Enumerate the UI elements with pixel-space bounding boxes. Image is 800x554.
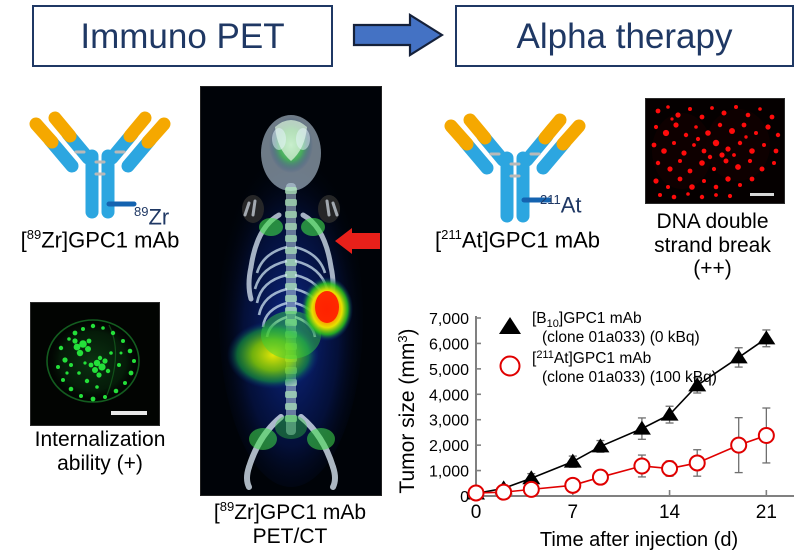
caption-pet-ct-line2: PET/CT bbox=[170, 525, 410, 549]
caption-dna-line3: (++) bbox=[625, 257, 800, 281]
data-point-marker bbox=[730, 349, 748, 363]
caption-internalization: Internalization ability (+) bbox=[0, 428, 200, 475]
pet-ct-image bbox=[200, 86, 382, 496]
legend-marker bbox=[501, 357, 520, 376]
antibody-diagram-zr89 bbox=[10, 100, 190, 220]
caption-pet-ct: [89Zr]GPC1 mAb PET/CT bbox=[170, 500, 410, 548]
caption-at211-gpc1-mab: [211At]GPC1 mAb bbox=[410, 228, 625, 253]
caption-internalization-line1: Internalization bbox=[0, 428, 200, 452]
header-box-immuno-pet: Immuno PET bbox=[32, 5, 333, 67]
isotope-label-at211: 211At bbox=[540, 193, 582, 216]
data-point-marker bbox=[591, 438, 609, 452]
y-tick-label: 3,000 bbox=[429, 413, 469, 430]
isotope-symbol-zr: Zr bbox=[148, 204, 169, 229]
data-point-marker bbox=[634, 458, 649, 473]
caption-mass-89: 89 bbox=[27, 227, 41, 242]
isotope-label-zr89: 89Zr bbox=[134, 205, 169, 228]
caption-text: At]GPC1 mAb bbox=[462, 227, 600, 252]
caption-zr89-gpc1-mab: [89Zr]GPC1 mAb bbox=[0, 228, 200, 253]
isotope-mass-zr89: 89 bbox=[134, 204, 148, 219]
data-point-marker bbox=[469, 485, 484, 500]
caption-mass-89: 89 bbox=[220, 499, 234, 514]
y-tick-label: 4,000 bbox=[429, 387, 469, 404]
caption-dna-damage: DNA double strand break (++) bbox=[625, 210, 800, 281]
caption-text: Zr]GPC1 mAb bbox=[234, 501, 366, 524]
y-tick-label: 1,000 bbox=[429, 464, 469, 481]
legend-marker bbox=[499, 317, 521, 334]
y-tick-label: 5,000 bbox=[429, 362, 469, 379]
y-tick-label: 2,000 bbox=[429, 438, 469, 455]
isotope-mass-at211: 211 bbox=[540, 192, 561, 207]
data-point-marker bbox=[565, 478, 580, 493]
tumor-growth-chart: 01,0002,0003,0004,0005,0006,0007,0000714… bbox=[398, 300, 800, 554]
red-arrow-icon bbox=[334, 228, 382, 254]
internalization-microscopy-image bbox=[30, 302, 160, 426]
caption-mass-211: 211 bbox=[441, 227, 462, 242]
caption-text: Zr]GPC1 mAb bbox=[41, 227, 179, 252]
header-label-alpha-therapy: Alpha therapy bbox=[517, 19, 733, 54]
header-box-alpha-therapy: Alpha therapy bbox=[455, 5, 794, 67]
antibody-icon bbox=[10, 100, 190, 220]
dna-damage-microscopy-image bbox=[645, 98, 785, 204]
x-tick-label: 0 bbox=[471, 502, 482, 523]
series-line bbox=[476, 435, 766, 492]
isotope-symbol-at: At bbox=[561, 192, 582, 217]
x-tick-label: 7 bbox=[567, 502, 578, 523]
y-tick-label: 7,000 bbox=[429, 311, 469, 328]
legend-label-line1: [211At]GPC1 mAb bbox=[532, 349, 651, 367]
legend-label-line2: (clone 01a033) (0 kBq) bbox=[542, 329, 700, 346]
data-point-marker bbox=[757, 330, 775, 344]
svg-text:Tumor size (mm3): Tumor size (mm3) bbox=[398, 328, 419, 493]
x-axis-title: Time after injection (d) bbox=[540, 529, 738, 551]
x-tick-label: 14 bbox=[659, 502, 681, 523]
legend-label-line2: (clone 01a033) (100 kBq) bbox=[542, 369, 717, 386]
tumor-growth-plot: 01,0002,0003,0004,0005,0006,0007,0000714… bbox=[398, 300, 800, 554]
right-arrow-icon bbox=[352, 13, 444, 57]
data-point-marker bbox=[633, 421, 651, 435]
data-point-marker bbox=[496, 485, 511, 500]
data-point-marker bbox=[690, 455, 705, 470]
data-point-marker bbox=[662, 461, 677, 476]
x-tick-label: 21 bbox=[756, 502, 777, 523]
data-point-marker bbox=[731, 438, 746, 453]
y-tick-label: 6,000 bbox=[429, 336, 469, 353]
caption-dna-line2: strand break bbox=[625, 234, 800, 258]
caption-internalization-line2: ability (+) bbox=[0, 452, 200, 476]
header-label-immuno-pet: Immuno PET bbox=[80, 19, 284, 54]
data-point-marker bbox=[593, 470, 608, 485]
data-point-marker bbox=[524, 482, 539, 497]
caption-pet-ct-line1: [89Zr]GPC1 mAb bbox=[170, 500, 410, 525]
y-axis-title: Tumor size (mm3) bbox=[398, 328, 419, 493]
data-point-marker bbox=[759, 428, 774, 443]
legend-label-line1: [B10]GPC1 mAb bbox=[532, 310, 642, 330]
caption-dna-line1: DNA double bbox=[625, 210, 800, 234]
data-point-marker bbox=[564, 454, 582, 468]
